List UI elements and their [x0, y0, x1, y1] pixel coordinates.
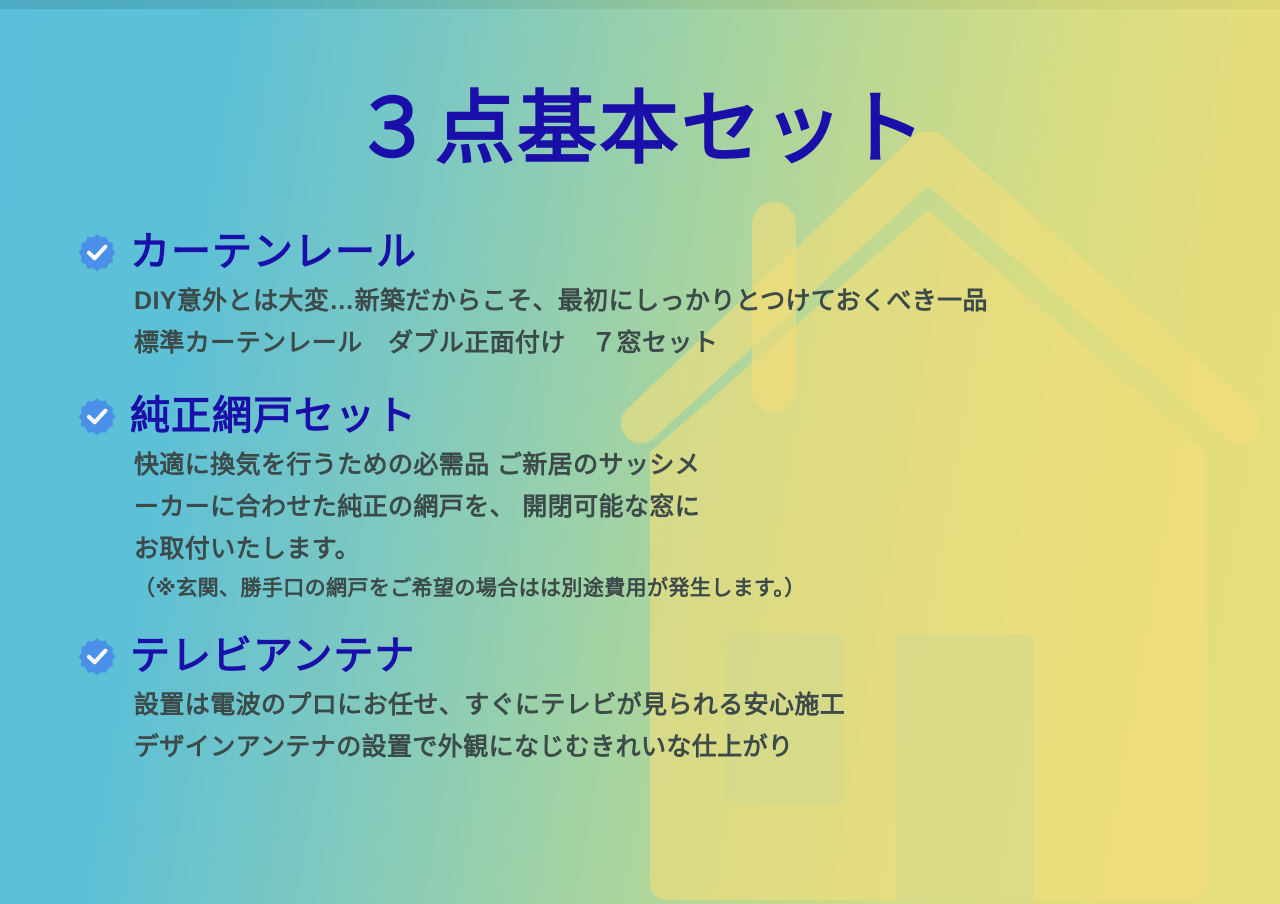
feature-line: お取付いたします。 — [134, 528, 1268, 570]
check-badge-icon — [78, 637, 116, 675]
feature-heading: テレビアンテナ — [78, 630, 1268, 682]
feature-description: 設置は電波のプロにお任せ、すぐにテレビが見られる安心施工 デザインアンテナの設置… — [134, 684, 1268, 768]
feature-line: ーカーに合わせた純正の網戸を、 開閉可能な窓に — [134, 486, 1268, 528]
feature-item-screen-door: 純正網戸セット 快適に換気を行うための必需品 ご新居のサッシメ ーカーに合わせた… — [78, 390, 1268, 606]
feature-title: 純正網戸セット — [130, 396, 417, 436]
feature-line: DIY意外とは大変…新築だからこそ、最初にしっかりとつけておくべき一品 — [134, 280, 1268, 322]
feature-line: 標準カーテンレール ダブル正面付け ７窓セット — [134, 322, 1268, 364]
promo-poster: ３点基本セット カーテンレール DIY意外とは大変…新築だからこそ、最初にしっか… — [0, 0, 1280, 904]
feature-title: テレビアンテナ — [130, 636, 415, 676]
feature-item-curtain-rail: カーテンレール DIY意外とは大変…新築だからこそ、最初にしっかりとつけておくべ… — [78, 226, 1268, 364]
feature-line: デザインアンテナの設置で外観になじむきれいな仕上がり — [134, 726, 1268, 768]
feature-heading: カーテンレール — [78, 226, 1268, 278]
feature-note: （※玄関、勝手口の網戸をご希望の場合はは別途費用が発生します。） — [134, 572, 1268, 606]
feature-description: DIY意外とは大変…新築だからこそ、最初にしっかりとつけておくべき一品 標準カー… — [134, 280, 1268, 364]
check-badge-icon — [78, 233, 116, 271]
page-title: ３点基本セット — [0, 86, 1280, 172]
feature-line: 設置は電波のプロにお任せ、すぐにテレビが見られる安心施工 — [134, 684, 1268, 726]
poster-content: ３点基本セット カーテンレール DIY意外とは大変…新築だからこそ、最初にしっか… — [0, 0, 1280, 904]
feature-title: カーテンレール — [130, 232, 417, 272]
check-badge-icon — [78, 397, 116, 435]
feature-item-tv-antenna: テレビアンテナ 設置は電波のプロにお任せ、すぐにテレビが見られる安心施工 デザイ… — [78, 630, 1268, 768]
feature-description: 快適に換気を行うための必需品 ご新居のサッシメ ーカーに合わせた純正の網戸を、 … — [134, 444, 1268, 606]
feature-heading: 純正網戸セット — [78, 390, 1268, 442]
feature-line: 快適に換気を行うための必需品 ご新居のサッシメ — [134, 444, 1268, 486]
